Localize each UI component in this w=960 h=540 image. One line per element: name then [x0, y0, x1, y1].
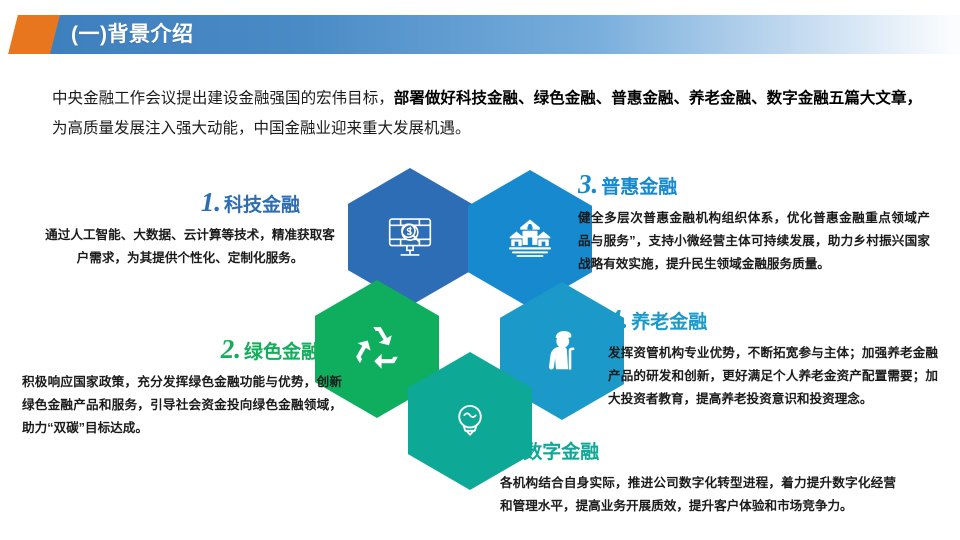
intro-lead-text: 中央金融工作会议提出建设金融强国的宏伟目标， — [52, 90, 394, 107]
section-number: 3. — [578, 172, 598, 196]
section-heading-green-finance: 2. 绿色金融 — [22, 337, 342, 365]
monitor-magnifier-dollar-icon — [385, 212, 435, 262]
recycle-icon — [351, 323, 403, 375]
section-body-green-finance: 积极响应国家政策，充分发挥绿色金融功能与优势，创新绿色金融产品和服务，引导社会资… — [22, 371, 342, 440]
section-block-green-finance: 2. 绿色金融 积极响应国家政策，充分发挥绿色金融功能与优势，创新绿色金融产品和… — [22, 337, 342, 440]
section-body-inclusive-finance: 健全多层次普惠金融机构组织体系，优化普惠金融重点领域产品与服务”，支持小微经营主… — [578, 207, 930, 276]
section-heading-pension-finance: 4. 养老金融 — [608, 307, 938, 335]
section-block-digital-finance: 5. 数字金融 各机构结合自身实际，推进公司数字化转型进程，着力提升数字化经营和… — [500, 437, 896, 518]
houses-icon — [506, 215, 554, 263]
lightbulb-idea-icon — [447, 398, 493, 444]
section-number: 2. — [221, 337, 241, 361]
section-title: 科技金融 — [224, 194, 300, 218]
section-block-inclusive-finance: 3. 普惠金融 健全多层次普惠金融机构组织体系，优化普惠金融重点领域产品与服务”… — [578, 172, 930, 276]
section-body-digital-finance: 各机构结合自身实际，推进公司数字化转型进程，着力提升数字化经营和管理水平，提高业… — [500, 472, 896, 518]
section-title: 数字金融 — [523, 441, 599, 465]
hexagon-cluster — [320, 168, 620, 463]
section-number: 1. — [201, 190, 221, 214]
hexagon-tech-finance[interactable] — [348, 168, 472, 306]
section-heading-tech-finance: 1. 科技金融 — [40, 190, 340, 218]
intro-paragraph: 中央金融工作会议提出建设金融强国的宏伟目标，部署做好科技金融、绿色金融、普惠金融… — [52, 84, 922, 144]
section-body-pension-finance: 发挥资管机构专业优势，不断拓宽参与主体；加强养老金融产品的研发和创新，更好满足个… — [608, 342, 938, 411]
hexagon-inclusive-finance[interactable] — [468, 170, 592, 308]
section-body-tech-finance: 通过人工智能、大数据、云计算等技术，精准获取客户需求，为其提供个性化、定制化服务… — [40, 224, 340, 270]
section-block-pension-finance: 4. 养老金融 发挥资管机构专业优势，不断拓宽参与主体；加强养老金融产品的研发和… — [608, 307, 938, 411]
section-number: 5. — [500, 437, 520, 461]
intro-tail-text: 为高质量发展注入强大动能，中国金融业迎来重大发展机遇。 — [52, 120, 471, 137]
section-heading-digital-finance: 5. 数字金融 — [500, 437, 896, 465]
section-block-tech-finance: 1. 科技金融 通过人工智能、大数据、云计算等技术，精准获取客户需求，为其提供个… — [40, 190, 340, 270]
section-title: 养老金融 — [631, 311, 707, 335]
section-title: 普惠金融 — [601, 176, 677, 200]
elderly-person-cane-icon — [537, 326, 587, 376]
section-title: 绿色金融 — [244, 341, 320, 365]
section-heading-inclusive-finance: 3. 普惠金融 — [578, 172, 930, 200]
intro-bold-text: 部署做好科技金融、绿色金融、普惠金融、养老金融、数字金融五篇大文章， — [394, 90, 922, 107]
page-title: (一)背景介绍 — [71, 15, 194, 54]
section-number: 4. — [608, 307, 628, 331]
header-banner: (一)背景介绍 — [0, 15, 960, 54]
